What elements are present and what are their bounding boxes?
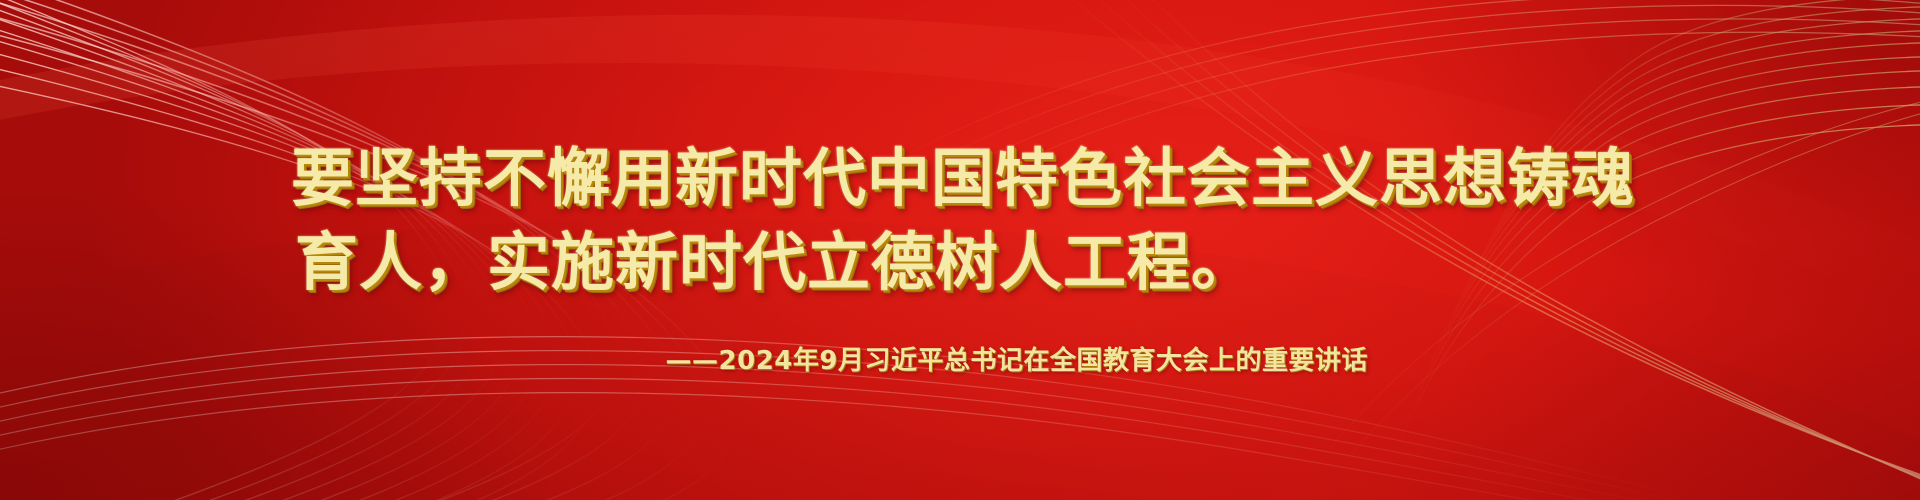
celebration-banner: 要坚持不懈用新时代中国特色社会主义思想铸魂 育人，实施新时代立德树人工程。 ——… xyxy=(0,0,1920,500)
banner-content: 要坚持不懈用新时代中国特色社会主义思想铸魂 育人，实施新时代立德树人工程。 ——… xyxy=(0,0,1920,500)
headline-line-2: 育人，实施新时代立德树人工程。 xyxy=(0,221,1800,305)
quote-attribution: ——2024年9月习近平总书记在全国教育大会上的重要讲话 xyxy=(0,340,1920,377)
headline-line-1: 要坚持不懈用新时代中国特色社会主义思想铸魂 xyxy=(120,137,1800,221)
headline-quote: 要坚持不懈用新时代中国特色社会主义思想铸魂 育人，实施新时代立德树人工程。 xyxy=(0,137,1920,305)
